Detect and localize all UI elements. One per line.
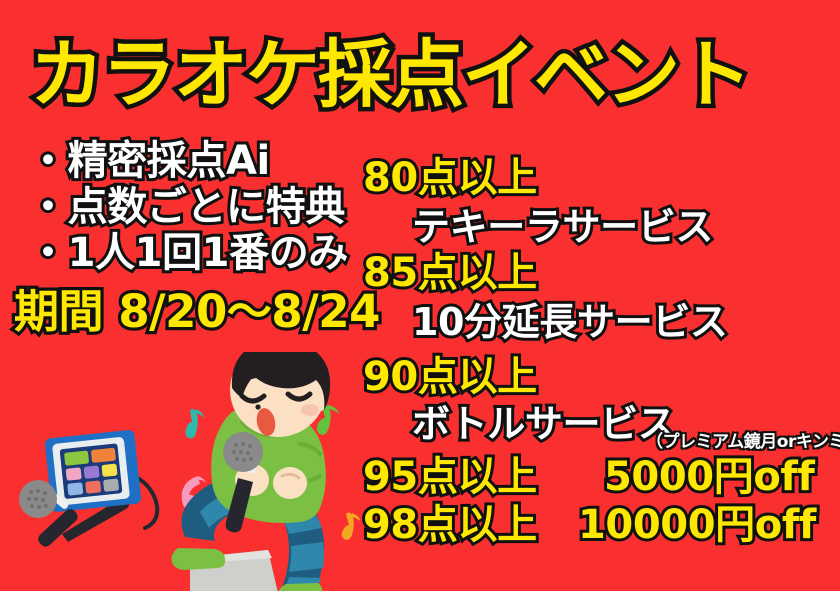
bottle-service-note: （プレミアム鏡月orキンミヤ） [646, 434, 840, 451]
tier-reward-85: 10分延長サービス [412, 303, 727, 341]
page-title: カラオケ採点イベント [30, 38, 750, 112]
tier-reward-80: テキーラサービス [412, 208, 713, 246]
karaoke-singer-illustration [0, 352, 360, 593]
tier-score-95: 95点以上 [363, 457, 537, 497]
tier-score-90: 90点以上 [363, 357, 537, 397]
tier-score-80: 80点以上 [363, 158, 537, 198]
music-note-teal [185, 409, 204, 438]
feature-bullet-2: ・1人1回1番のみ [28, 233, 348, 273]
tier-score-85: 85点以上 [363, 253, 537, 293]
event-period: 期間 8/20〜8/24 [14, 289, 380, 334]
music-note-orange [342, 513, 360, 540]
tier-reward-98: 10000円off [578, 505, 816, 545]
tier-score-98: 98点以上 [363, 505, 537, 545]
poster-canvas: カラオケ採点イベント ・精密採点Ai ・点数ごとに特典 ・1人1回1番のみ 期間… [0, 0, 840, 593]
tier-reward-95: 5000円off [604, 457, 814, 497]
tier-reward-90: ボトルサービス [412, 405, 675, 443]
feature-bullet-0: ・精密採点Ai [28, 141, 270, 181]
feature-bullet-1: ・点数ごとに特典 [28, 187, 345, 227]
